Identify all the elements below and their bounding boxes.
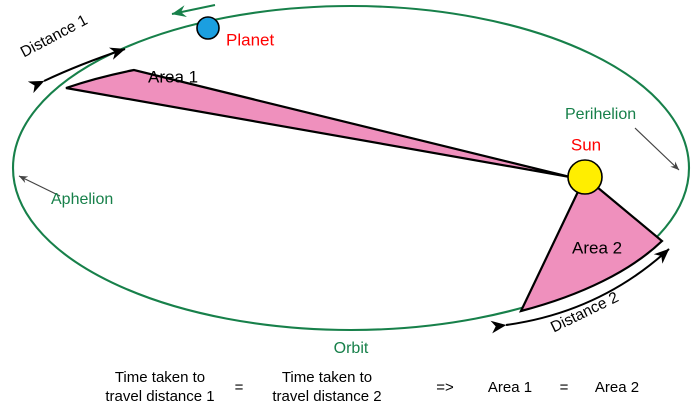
- caption-right-line-2: travel distance 2: [272, 388, 381, 405]
- aphelion-label: Aphelion: [51, 191, 113, 208]
- caption-equals-sign: =: [235, 379, 244, 396]
- area-2-label: Area 2: [572, 238, 622, 257]
- planet-icon: [197, 17, 219, 39]
- caption-result-equals: =: [560, 379, 569, 396]
- area-1-label: Area 1: [148, 67, 198, 86]
- caption-implies-sign: =>: [436, 379, 454, 396]
- area-1-wedge: [66, 70, 570, 177]
- distance-1-label: Distance 1: [18, 12, 91, 61]
- sun-icon: [568, 160, 602, 194]
- sun-label: Sun: [571, 135, 601, 154]
- caption-equation: Time taken to travel distance 1 = Time t…: [105, 369, 639, 405]
- caption-right-line-1: Time taken to: [282, 369, 372, 386]
- perihelion-label: Perihelion: [565, 106, 636, 123]
- keplers-second-law-diagram: Planet Sun Perihelion Aphelion Orbit Are…: [0, 0, 700, 411]
- planet-label: Planet: [226, 30, 274, 49]
- caption-left-line-2: travel distance 1: [105, 388, 214, 405]
- perihelion-leader-arrow-icon: [635, 128, 679, 170]
- direction-arrow-icon: [172, 5, 215, 14]
- caption-result-right: Area 2: [595, 379, 639, 396]
- orbit-label: Orbit: [334, 340, 369, 357]
- caption-left-line-1: Time taken to: [115, 369, 205, 386]
- caption-result-left: Area 1: [488, 379, 532, 396]
